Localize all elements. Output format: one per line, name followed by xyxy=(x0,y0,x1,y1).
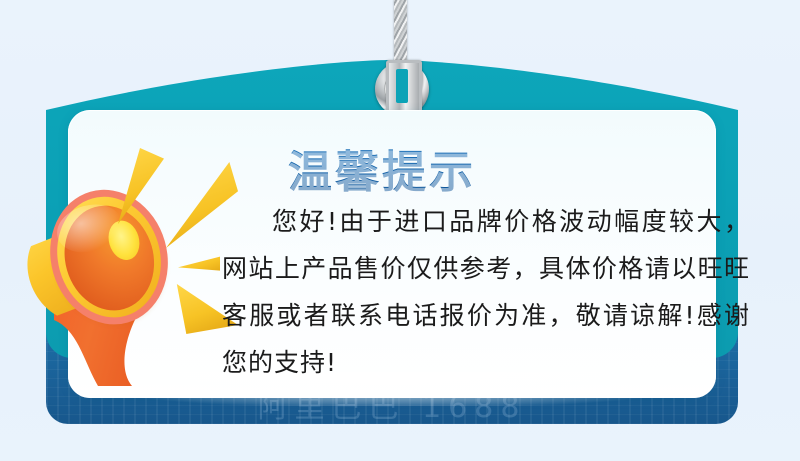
notice-title: 温馨提示 xyxy=(288,136,476,200)
sound-ray-3-icon xyxy=(178,255,220,275)
notice-body: 您好!由于进口品牌价格波动幅度较大，网站上产品售价仅供参考，具体价格请以旺旺客服… xyxy=(222,198,750,386)
cable-clasp-icon xyxy=(386,60,422,114)
notice-banner: 阿里巴巴 1688 温馨提示 您好!由于进口品牌价格波动幅度较大，网站上产品售价… xyxy=(0,0,800,461)
megaphone-cone xyxy=(7,181,177,345)
megaphone-icon xyxy=(26,150,236,400)
notice-body-text: 您好!由于进口品牌价格波动幅度较大，网站上产品售价仅供参考，具体价格请以旺旺客服… xyxy=(222,198,750,386)
